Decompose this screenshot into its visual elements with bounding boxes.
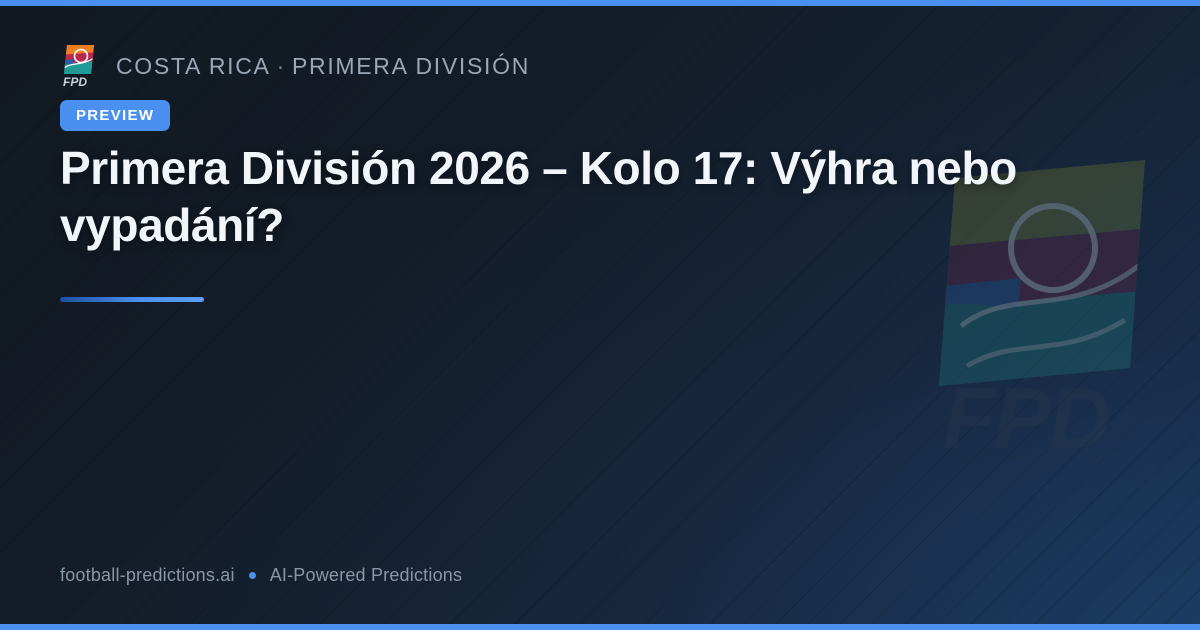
card-content: FPD COSTA RICA·PRIMERA DIVISIóN PREVIEW … [60, 0, 1140, 630]
league-breadcrumb: COSTA RICA·PRIMERA DIVISIóN [116, 53, 530, 80]
footer: football-predictions.ai AI-Powered Predi… [60, 565, 462, 586]
site-name: football-predictions.ai [60, 565, 235, 586]
fpd-costa-rica-logo-icon: FPD [60, 44, 98, 88]
breadcrumb-separator: · [271, 53, 292, 79]
tagline: AI-Powered Predictions [270, 565, 463, 586]
league-header: FPD COSTA RICA·PRIMERA DIVISIóN [60, 44, 530, 88]
league-label: PRIMERA DIVISIóN [292, 53, 530, 79]
title-divider [60, 297, 204, 302]
league-mark-wordmark: FPD [63, 75, 87, 88]
status-badge: PREVIEW [60, 100, 170, 131]
og-preview-card: FPD COSTA RICA [0, 0, 1200, 630]
bottom-accent-bar [0, 624, 1200, 630]
page-title: Primera División 2026 – Kolo 17: Výhra n… [60, 140, 1045, 254]
bullet-dot-icon [249, 572, 256, 579]
top-accent-bar [0, 0, 1200, 6]
country-label: COSTA RICA [116, 53, 271, 79]
